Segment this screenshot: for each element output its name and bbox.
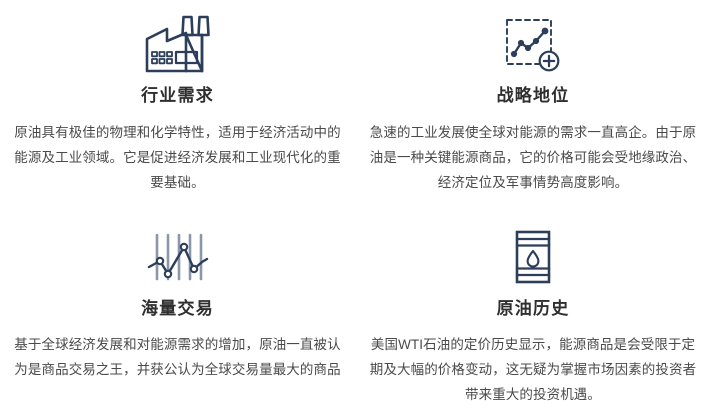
trading-volume-chart-icon — [146, 221, 210, 293]
line-chart-add-icon — [502, 6, 564, 84]
card-title: 行业需求 — [141, 86, 214, 106]
feature-card-trading-volume: 海量交易 基于全球经济发展和对能源需求的增加，原油一直被认为是商品交易之王，并获… — [0, 207, 355, 414]
feature-card-industry-demand: 行业需求 原油具有极佳的物理和化学特性，适用于经济活动中的能源及工业领域。它是促… — [0, 0, 355, 207]
feature-grid: 行业需求 原油具有极佳的物理和化学特性，适用于经济活动中的能源及工业领域。它是促… — [0, 0, 711, 414]
feature-card-oil-history: 原油历史 美国WTI石油的定价历史显示，能源商品是会受限于定期及大幅的价格变动，… — [355, 207, 711, 414]
card-body: 原油具有极佳的物理和化学特性，适用于经济活动中的能源及工业领域。它是促进经济发展… — [13, 120, 343, 195]
factory-icon — [142, 6, 214, 84]
feature-card-strategic-position: 战略地位 急速的工业发展使全球对能源的需求一直高企。由于原油是一种关键能源商品，… — [355, 0, 711, 207]
oil-barrel-icon — [510, 221, 556, 293]
card-body: 急速的工业发展使全球对能源的需求一直高企。由于原油是一种关键能源商品，它的价格可… — [368, 120, 698, 195]
card-title: 海量交易 — [141, 299, 214, 319]
card-body: 美国WTI石油的定价历史显示，能源商品是会受限于定期及大幅的价格变动，这无疑为掌… — [368, 332, 698, 407]
card-body: 基于全球经济发展和对能源需求的增加，原油一直被认为是商品交易之王，并获公认为全球… — [13, 332, 343, 382]
card-title: 原油历史 — [497, 299, 570, 319]
card-title: 战略地位 — [497, 86, 570, 106]
